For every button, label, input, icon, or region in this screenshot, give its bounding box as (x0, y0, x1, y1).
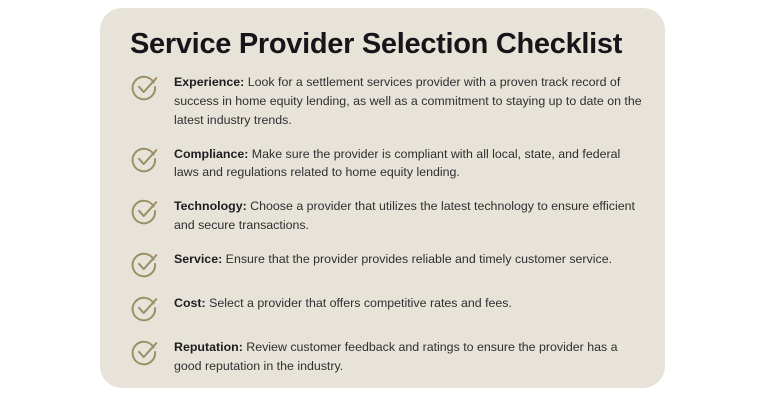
list-item-label: Technology: (174, 199, 247, 213)
list-item-description: Ensure that the provider provides reliab… (222, 252, 612, 266)
list-item-text: Cost: Select a provider that offers comp… (174, 292, 642, 313)
list-item-label: Reputation: (174, 340, 243, 354)
checklist-items-list: Experience: Look for a settlement servic… (130, 71, 642, 389)
page-title: Service Provider Selection Checklist (130, 29, 640, 61)
circle-check-icon (130, 337, 160, 367)
list-item-label: Experience: (174, 75, 244, 89)
checklist-card: Service Provider Selection Checklist Exp… (100, 8, 665, 388)
list-item: Compliance: Make sure the provider is co… (130, 143, 642, 183)
list-item-description: Select a provider that offers competitiv… (206, 296, 512, 310)
list-item-text: Reputation: Review customer feedback and… (174, 336, 642, 376)
circle-check-icon (130, 249, 160, 279)
list-item-text: Experience: Look for a settlement servic… (174, 71, 642, 130)
circle-check-icon (130, 293, 160, 323)
list-item: Cost: Select a provider that offers comp… (130, 292, 642, 323)
list-item: Reputation: Review customer feedback and… (130, 336, 642, 376)
list-item: Service: Ensure that the provider provid… (130, 248, 642, 279)
list-item-label: Compliance: (174, 147, 248, 161)
list-item-description: Look for a settlement services provider … (174, 75, 642, 127)
list-item-text: Service: Ensure that the provider provid… (174, 248, 642, 269)
circle-check-icon (130, 144, 160, 174)
list-item: Technology: Choose a provider that utili… (130, 195, 642, 235)
list-item-label: Cost: (174, 296, 206, 310)
page-root: Service Provider Selection Checklist Exp… (0, 0, 764, 400)
circle-check-icon (130, 196, 160, 226)
list-item-label: Service: (174, 252, 222, 266)
list-item-text: Compliance: Make sure the provider is co… (174, 143, 642, 183)
list-item: Experience: Look for a settlement servic… (130, 71, 642, 130)
circle-check-icon (130, 72, 160, 102)
list-item-text: Technology: Choose a provider that utili… (174, 195, 642, 235)
